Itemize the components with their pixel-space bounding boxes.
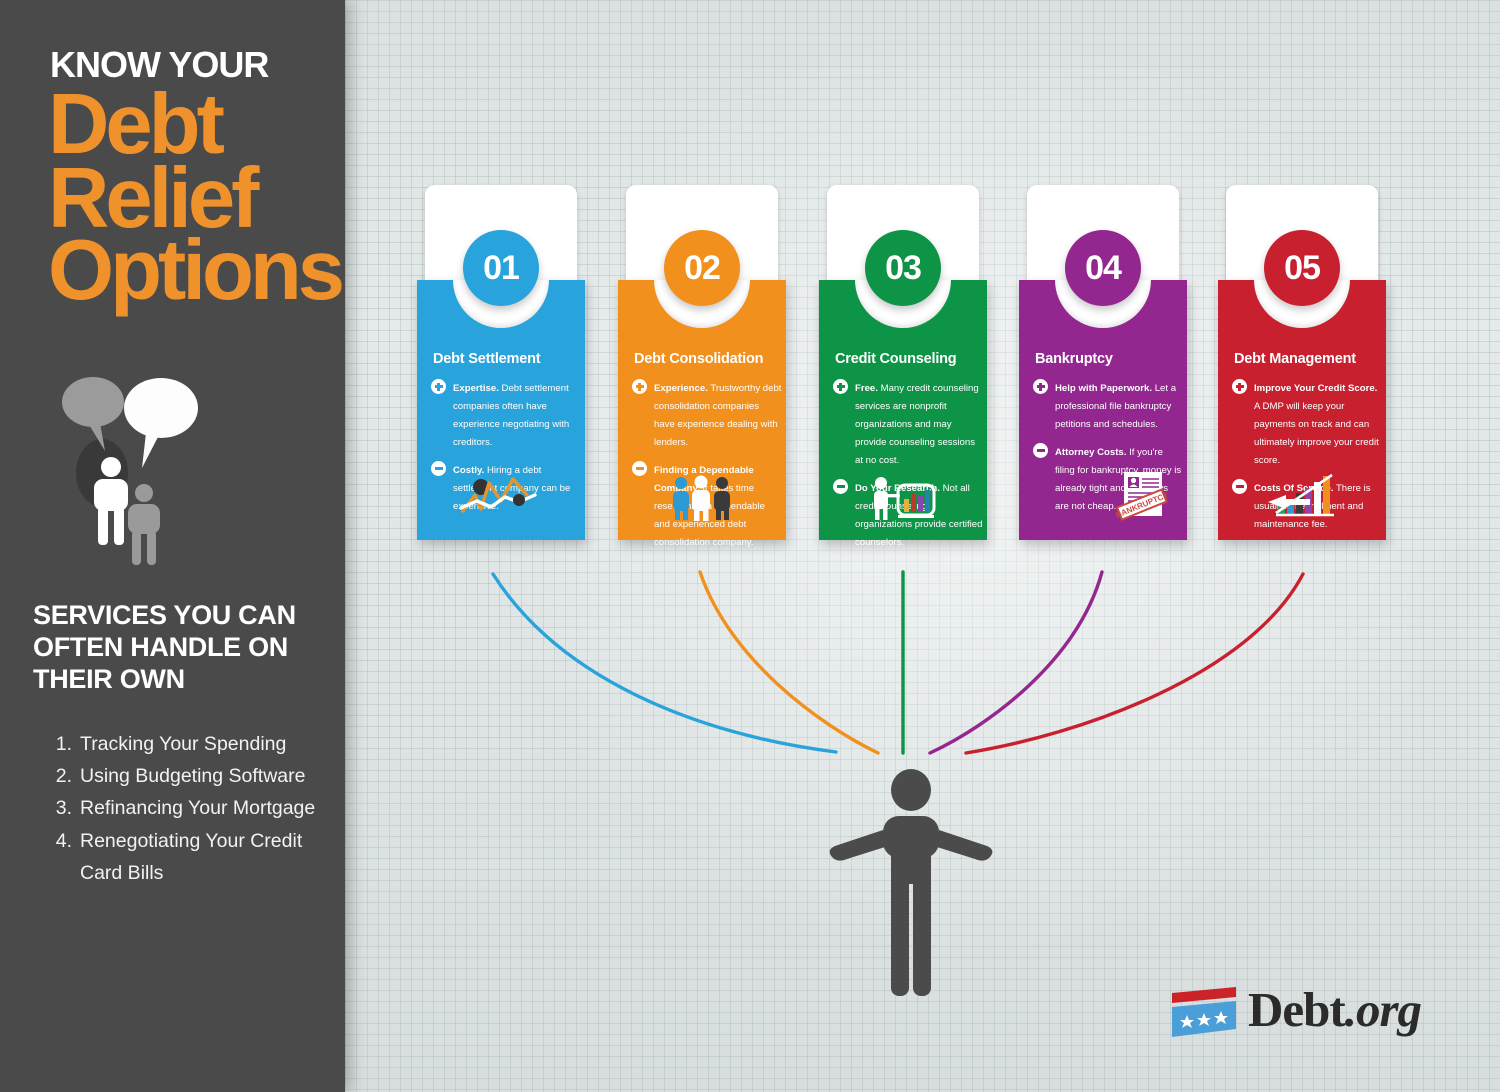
plus-icon <box>431 379 446 394</box>
card-number-badge: 02 <box>664 230 740 306</box>
card-points: Experience. Trustworthy debt consolidati… <box>632 378 782 560</box>
card-illustration <box>1218 471 1386 526</box>
bankruptcy-document-stamp-icon: BANKRUPTCY <box>1113 469 1171 521</box>
list-item-number: 4. <box>52 825 72 889</box>
logo-wordmark: Debt.org <box>1248 981 1421 1038</box>
card-pro-point: Expertise. Debt settlement companies oft… <box>431 378 581 450</box>
list-item-number: 1. <box>52 728 72 760</box>
pro-text: Many credit counseling services are nonp… <box>855 383 979 466</box>
pro-label: Help with Paperwork. <box>1055 383 1152 394</box>
card-pro-point: Experience. Trustworthy debt consolidati… <box>632 378 782 450</box>
minus-icon <box>1033 443 1048 458</box>
list-item-label: Refinancing Your Mortgage <box>80 792 315 824</box>
card-title: Bankruptcy <box>1035 351 1185 367</box>
card-points: Free. Many credit counseling services ar… <box>833 378 983 560</box>
card-illustration <box>618 475 786 526</box>
card-number: 05 <box>1284 249 1320 288</box>
pro-label: Free. <box>855 383 878 394</box>
person-figure-gray <box>128 484 160 565</box>
declining-bar-chart-arrow-icon <box>1262 471 1342 521</box>
list-item-label: Renegotiating Your Credit Card Bills <box>80 825 322 889</box>
pro-label: Improve Your Credit Score. <box>1254 383 1377 394</box>
card-number: 02 <box>684 249 720 288</box>
logo-name: Debt <box>1248 982 1345 1037</box>
person-bar-chart-icon <box>868 475 938 521</box>
card-pro-point: Free. Many credit counseling services ar… <box>833 378 983 468</box>
option-card-3[interactable]: 03 Credit Counseling Free. Many credit c… <box>819 185 987 540</box>
card-title: Credit Counseling <box>835 351 985 367</box>
list-item-number: 3. <box>52 792 72 824</box>
list-item: 3. Refinancing Your Mortgage <box>52 792 322 824</box>
card-pro-point: Improve Your Credit Score. A DMP will ke… <box>1232 378 1382 468</box>
minus-icon <box>632 461 647 476</box>
list-item-label: Using Budgeting Software <box>80 760 305 792</box>
shrugging-person-figure <box>823 768 998 1003</box>
option-card-2[interactable]: 02 Debt Consolidation Experience. Trustw… <box>618 185 786 540</box>
option-card-4[interactable]: 04 Bankruptcy Help with Paperwork. Let a… <box>1019 185 1187 540</box>
card-illustration <box>417 475 585 526</box>
option-card-1[interactable]: 01 Debt Settlement Expertise. Debt settl… <box>417 185 585 540</box>
option-card-5[interactable]: 05 Debt Management Improve Your Credit S… <box>1218 185 1386 540</box>
minus-icon <box>431 461 446 476</box>
speech-bubble-white <box>124 378 198 468</box>
line-chart-person-icon <box>455 475 547 521</box>
card-number: 04 <box>1085 249 1121 288</box>
card-title: Debt Consolidation <box>634 351 784 367</box>
plus-icon <box>632 379 647 394</box>
list-item: 1. Tracking Your Spending <box>52 728 322 760</box>
plus-icon <box>1033 379 1048 394</box>
card-number: 03 <box>885 249 921 288</box>
list-item-label: Tracking Your Spending <box>80 728 286 760</box>
card-pro-point: Help with Paperwork. Let a professional … <box>1033 378 1183 432</box>
pro-label: Experience. <box>654 383 708 394</box>
plus-icon <box>833 379 848 394</box>
logo-suffix: .org <box>1345 982 1421 1037</box>
left-sidebar-panel: KNOW YOUR Debt Relief Options <box>0 0 345 1092</box>
three-people-icon <box>667 475 737 521</box>
speech-bubble-gray <box>62 377 124 451</box>
list-item: 4. Renegotiating Your Credit Card Bills <box>52 825 322 889</box>
card-title: Debt Management <box>1234 351 1384 367</box>
card-number: 01 <box>483 249 519 288</box>
card-number-badge: 05 <box>1264 230 1340 306</box>
con-label: Attorney Costs. <box>1055 447 1126 458</box>
list-item-number: 2. <box>52 760 72 792</box>
two-people-speech-bubbles-icon <box>60 375 220 565</box>
pro-text: A DMP will keep your payments on track a… <box>1254 401 1379 466</box>
services-list: 1. Tracking Your Spending 2. Using Budge… <box>52 728 322 889</box>
list-item: 2. Using Budgeting Software <box>52 760 322 792</box>
plus-icon <box>1232 379 1247 394</box>
flag-logo-icon <box>1170 985 1242 1043</box>
pro-label: Expertise. <box>453 383 499 394</box>
card-number-badge: 04 <box>1065 230 1141 306</box>
debt-org-logo[interactable]: Debt.org <box>1170 985 1440 1047</box>
card-number-badge: 01 <box>463 230 539 306</box>
card-illustration <box>819 475 987 526</box>
card-number-badge: 03 <box>865 230 941 306</box>
header-title-line-3: Options <box>48 234 341 307</box>
card-title: Debt Settlement <box>433 351 583 367</box>
card-illustration: BANKRUPTCY <box>1019 469 1187 526</box>
services-heading: SERVICES YOU CAN OFTEN HANDLE ON THEIR O… <box>33 600 333 696</box>
